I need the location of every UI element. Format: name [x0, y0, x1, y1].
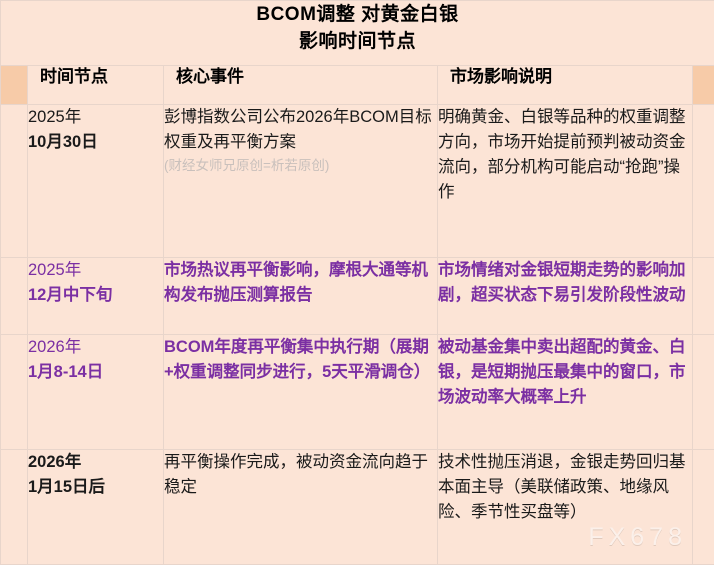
column-header-time: 时间节点	[28, 66, 164, 105]
cell-time: 2025年 10月30日	[28, 105, 164, 258]
column-header-event: 核心事件	[164, 66, 438, 105]
row-gutter-left	[1, 257, 28, 334]
cell-impact: 明确黄金、白银等品种的权重调整方向，市场开始提前预判被动资金流向，部分机构可能启…	[438, 105, 693, 258]
row-date-bottom: 12月中下旬	[28, 283, 163, 308]
cell-time: 2025年 12月中下旬	[28, 257, 164, 334]
table-row: 2026年 1月8-14日 BCOM年度再平衡集中执行期（展期+权重调整同步进行…	[1, 334, 714, 449]
row-date-bottom: 1月8-14日	[28, 360, 163, 385]
row-date-top: 2026年	[28, 335, 163, 360]
row-impact-text: 被动基金集中卖出超配的黄金、白银，是短期抛压最集中的窗口，市场波动率大概率上升	[438, 335, 692, 410]
row-date-bottom: 10月30日	[28, 130, 163, 155]
row-impact-text: 市场情绪对金银短期走势的影响加剧，超买状态下易引发阶段性波动	[438, 258, 692, 308]
row-event-text: 市场热议再平衡影响，摩根大通等机构发布抛压测算报告	[164, 258, 437, 308]
row-date-top: 2025年	[28, 258, 163, 283]
row-event-text: 彭博指数公司公布2026年BCOM目标权重及再平衡方案	[164, 108, 432, 151]
column-header-event-label: 核心事件	[164, 66, 437, 88]
row-event-text: 再平衡操作完成，被动资金流向趋于稳定	[164, 450, 437, 500]
row-gutter-left	[1, 105, 28, 258]
title-line-2: 影响时间节点	[1, 28, 714, 55]
cell-event: 市场热议再平衡影响，摩根大通等机构发布抛压测算报告	[164, 257, 438, 334]
column-header-impact: 市场影响说明	[438, 66, 693, 105]
row-gutter-left	[1, 334, 28, 449]
row-event-note: (财经女师兄原创=析若原创)	[164, 156, 437, 175]
row-event-text: BCOM年度再平衡集中执行期（展期+权重调整同步进行，5天平滑调仓）	[164, 335, 437, 385]
timeline-table: BCOM调整 对黄金白银 影响时间节点 时间节点 核心事件 市场影响说明	[0, 0, 714, 565]
table-header-row: 时间节点 核心事件 市场影响说明	[1, 66, 714, 105]
row-impact-text: 明确黄金、白银等品种的权重调整方向，市场开始提前预判被动资金流向，部分机构可能启…	[438, 105, 692, 205]
row-date-bottom: 1月15日后	[28, 475, 163, 500]
row-gutter-right	[693, 257, 714, 334]
cell-event: 彭博指数公司公布2026年BCOM目标权重及再平衡方案 (财经女师兄原创=析若原…	[164, 105, 438, 258]
column-header-impact-label: 市场影响说明	[438, 66, 692, 88]
title-line-1: BCOM调整 对黄金白银	[1, 1, 714, 28]
row-date-top: 2026年	[28, 450, 163, 475]
page-title: BCOM调整 对黄金白银 影响时间节点	[1, 1, 714, 66]
table-row: 2026年 1月15日后 再平衡操作完成，被动资金流向趋于稳定 技术性抛压消退，…	[1, 449, 714, 564]
row-gutter-left	[1, 449, 28, 564]
row-impact-text: 技术性抛压消退，金银走势回归基本面主导（美联储政策、地缘风险、季节性买盘等）	[438, 450, 692, 525]
cell-impact: 技术性抛压消退，金银走势回归基本面主导（美联储政策、地缘风险、季节性买盘等）	[438, 449, 693, 564]
table-row: 2025年 12月中下旬 市场热议再平衡影响，摩根大通等机构发布抛压测算报告 市…	[1, 257, 714, 334]
row-date-top: 2025年	[28, 105, 163, 130]
row-gutter-right	[693, 334, 714, 449]
table-row: 2025年 10月30日 彭博指数公司公布2026年BCOM目标权重及再平衡方案…	[1, 105, 714, 258]
spreadsheet-canvas: BCOM调整 对黄金白银 影响时间节点 时间节点 核心事件 市场影响说明	[0, 0, 714, 565]
column-header-time-label: 时间节点	[28, 66, 163, 88]
cell-impact: 被动基金集中卖出超配的黄金、白银，是短期抛压最集中的窗口，市场波动率大概率上升	[438, 334, 693, 449]
cell-event: BCOM年度再平衡集中执行期（展期+权重调整同步进行，5天平滑调仓）	[164, 334, 438, 449]
header-gutter-right	[693, 66, 714, 105]
row-gutter-right	[693, 449, 714, 564]
row-gutter-right	[693, 105, 714, 258]
cell-event: 再平衡操作完成，被动资金流向趋于稳定	[164, 449, 438, 564]
cell-time: 2026年 1月15日后	[28, 449, 164, 564]
cell-impact: 市场情绪对金银短期走势的影响加剧，超买状态下易引发阶段性波动	[438, 257, 693, 334]
cell-time: 2026年 1月8-14日	[28, 334, 164, 449]
header-gutter-left	[1, 66, 28, 105]
title-row: BCOM调整 对黄金白银 影响时间节点	[1, 1, 714, 66]
